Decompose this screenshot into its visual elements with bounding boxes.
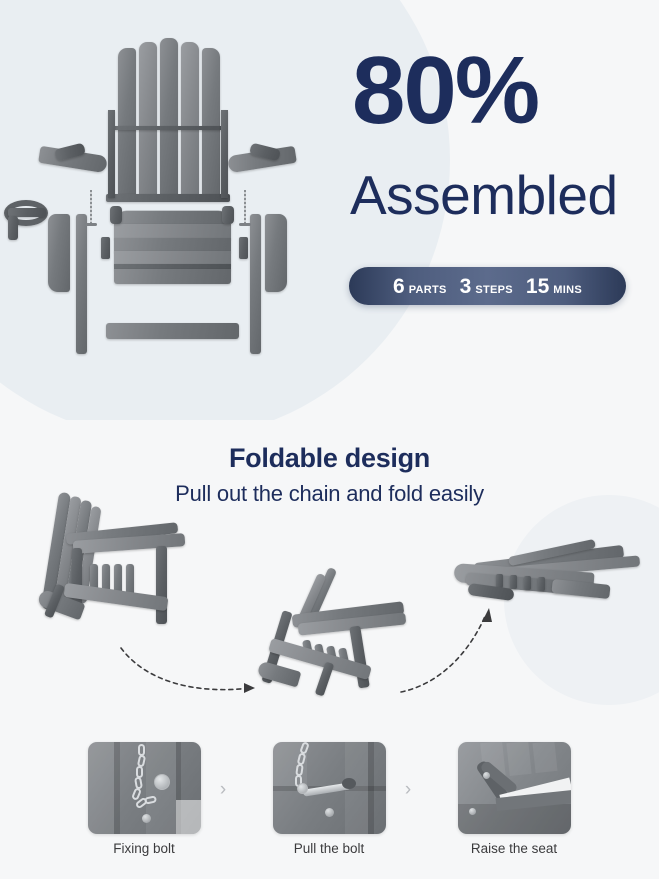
exploded-chair-diagram [0,18,330,363]
chair-leg-right [250,214,261,354]
stat-parts: 6 PARTS [393,276,447,297]
assembled-label: Assembled [350,168,618,223]
spacer-block-left [101,237,110,259]
step-thumbnail-fixing-bolt [88,742,201,834]
screw-right-head [239,223,251,226]
assembly-percent-headline: 80% [352,43,538,139]
chair-seat-assembly [114,210,231,298]
step-caption-raise-the-seat: Raise the seat [439,841,589,856]
step-item-pull-the-bolt[interactable]: Pull the bolt [254,735,404,834]
step-caption-pull-the-bolt: Pull the bolt [254,841,404,856]
chair-side-wing-left [48,214,70,292]
cup-holder-arm [8,216,18,240]
stat-mins-unit: MINS [553,284,582,296]
step-item-raise-the-seat[interactable]: Raise the seat [439,735,589,834]
fold-arrow-1 [118,636,268,698]
stat-parts-unit: PARTS [409,284,447,296]
step-thumbnail-pull-the-bolt [273,742,386,834]
hero-section: 80% Assembled 6 PARTS 3 STEPS 15 MINS [0,0,659,420]
screw-left-head [85,223,97,226]
chair-leg-left [76,214,87,354]
step-thumbnail-raise-the-seat [458,742,571,834]
chair-side-wing-right [265,214,287,292]
spacer-block-right [239,237,248,259]
step-caption-fixing-bolt: Fixing bolt [69,841,219,856]
step-separator-2: › [397,779,419,801]
stat-parts-value: 6 [393,276,405,297]
fold-stage-chair-unfolded [28,488,218,648]
screw-right [244,190,246,224]
fold-stage-chair-half-folded [258,566,418,706]
screw-left [90,190,92,224]
infographic-page: 80% Assembled 6 PARTS 3 STEPS 15 MINS Fo… [0,0,659,879]
stat-steps: 3 STEPS [460,276,513,297]
step-separator-1: › [212,779,234,801]
step-item-fixing-bolt[interactable]: Fixing bolt [69,735,219,834]
chair-crossbar [106,323,239,339]
fold-stage-chair-fully-folded [448,534,648,624]
chair-back-panel [116,38,220,198]
stat-steps-unit: STEPS [475,284,513,296]
assembly-steps-strip: Fixing bolt › Pull the bolt › [0,735,659,879]
stat-steps-value: 3 [460,276,472,297]
stat-mins: 15 MINS [526,276,582,297]
assembly-stats-badge: 6 PARTS 3 STEPS 15 MINS [349,267,626,305]
foldable-design-heading: Foldable design [0,443,659,474]
stat-mins-value: 15 [526,276,549,297]
